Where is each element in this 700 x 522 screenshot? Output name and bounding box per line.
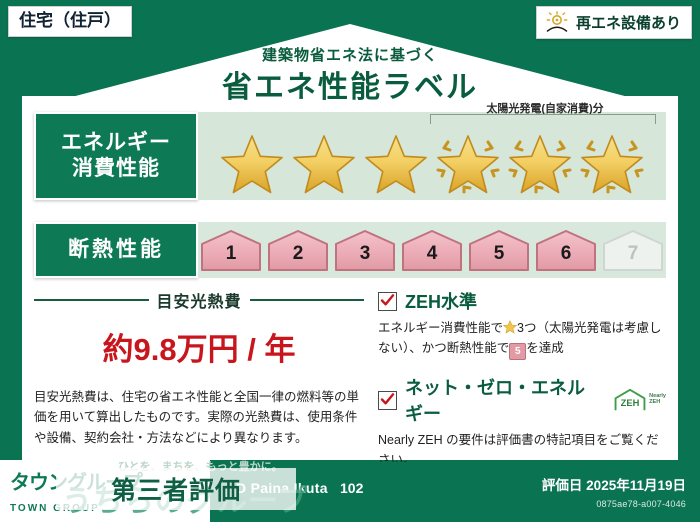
zeh-standard-body: エネルギー消費性能で3つ（太陽光発電は考慮しない）、かつ断熱性能で5を達成	[378, 318, 666, 360]
inline-star-icon	[503, 320, 517, 334]
solar-sparkle-icon	[434, 130, 502, 196]
star-5	[506, 130, 574, 196]
star-6	[578, 130, 646, 196]
energy-stars-area: 太陽光発電(自家消費)分	[198, 112, 666, 200]
star-4	[434, 130, 502, 196]
solar-sparkle-icon	[506, 130, 574, 196]
energy-label-line2: 消費性能	[72, 156, 160, 182]
renewable-energy-badge: 再エネ設備あり	[536, 6, 692, 39]
inline-level-badge: 5	[509, 343, 526, 360]
insulation-levels-area: 1234567	[198, 222, 666, 278]
zeh-checks-block: ZEH水準 エネルギー消費性能で3つ（太陽光発電は考慮しない）、かつ断熱性能で5…	[364, 288, 666, 448]
utility-cost-heading: 目安光熱費	[34, 288, 364, 312]
energy-label-line1: エネルギー	[61, 130, 171, 156]
evaluation-date: 評価日 2025年11月19日	[542, 474, 686, 494]
insulation-label-box: 断熱性能	[34, 222, 198, 278]
sun-icon	[545, 11, 569, 33]
insulation-level-7: 7	[601, 228, 665, 272]
insulation-level-4: 4	[400, 228, 464, 272]
insulation-label-text: 断熱性能	[68, 237, 164, 263]
insulation-level-2: 2	[266, 228, 330, 272]
insulation-level-number: 6	[534, 243, 598, 265]
energy-performance-label-box: エネルギー 消費性能	[34, 112, 198, 200]
star-3	[362, 130, 430, 196]
rule-left	[34, 299, 149, 301]
evaluation-date-label: 評価日	[542, 478, 583, 493]
zeh-standard-title: ZEH水準	[405, 288, 477, 314]
checkbox-zeh-standard[interactable]	[378, 292, 397, 311]
energy-performance-label: 住宅（住戸） 再エネ設備あり 建築物省エネ法に基づく 省エネ性能ラベル エネルギ…	[0, 0, 700, 522]
renewable-badge-label: 再エネ設備あり	[576, 12, 681, 33]
check-icon	[380, 392, 395, 407]
svg-text:ZEH: ZEH	[621, 398, 640, 408]
insulation-level-number: 3	[333, 243, 397, 265]
footer-bar: D Paina Ikuta 102 評価日 2025年11月19日 0875ae…	[0, 462, 700, 522]
zeh-logo: ZEH Nearly ZEH	[613, 388, 666, 412]
star-rating	[218, 116, 646, 196]
net-zero-check-row: ネット・ゼロ・エネルギー ZEH Nearly ZEH	[378, 374, 666, 426]
zeh-logo-sub: Nearly ZEH	[649, 394, 666, 406]
solar-sparkle-icon	[578, 130, 646, 196]
evaluation-date-value: 2025年11月19日	[586, 478, 686, 493]
insulation-level-number: 7	[601, 243, 665, 265]
utility-cost-heading-text: 目安光熱費	[157, 288, 242, 312]
rule-right	[250, 299, 365, 301]
insulation-level-6: 6	[534, 228, 598, 272]
insulation-performance-row: 断熱性能 1234567	[34, 222, 666, 278]
solar-bracket	[430, 114, 656, 124]
insulation-level-number: 4	[400, 243, 464, 265]
star-icon	[218, 130, 286, 196]
star-icon	[362, 130, 430, 196]
utility-cost-note: 目安光熱費は、住宅の省エネ性能と全国一律の燃料等の単価を用いて算出したものです。…	[34, 387, 364, 448]
star-2	[290, 130, 358, 196]
zeh-logo-sub2: ZEH	[649, 400, 666, 406]
checkbox-net-zero-energy[interactable]	[378, 391, 397, 410]
zeh-standard-body-part1: エネルギー消費性能で	[378, 321, 503, 335]
star-1	[218, 130, 286, 196]
insulation-level-number: 1	[199, 243, 263, 265]
zeh-house-icon: ZEH	[613, 388, 647, 412]
insulation-level-1: 1	[199, 228, 263, 272]
insulation-level-3: 3	[333, 228, 397, 272]
zeh-standard-body-part3: を達成	[526, 341, 564, 355]
star-icon	[290, 130, 358, 196]
insulation-level-scale: 1234567	[199, 228, 665, 272]
energy-performance-row: エネルギー 消費性能 太陽光発電(自家消費)分	[34, 112, 666, 200]
evaluation-id: 0875ae78-a007-4046	[596, 499, 686, 509]
check-icon	[380, 293, 395, 308]
insulation-level-number: 2	[266, 243, 330, 265]
insulation-level-number: 5	[467, 243, 531, 265]
house-type-tag: 住宅（住戸）	[8, 6, 132, 37]
utility-cost-value: 約9.8万円 / 年	[34, 324, 364, 369]
insulation-level-5: 5	[467, 228, 531, 272]
utility-cost-block: 目安光熱費 約9.8万円 / 年 目安光熱費は、住宅の省エネ性能と全国一律の燃料…	[34, 288, 364, 448]
zeh-standard-check-row: ZEH水準	[378, 288, 666, 314]
watermark-third-party: 第三者評価	[56, 468, 296, 510]
lower-section: 目安光熱費 約9.8万円 / 年 目安光熱費は、住宅の省エネ性能と全国一律の燃料…	[34, 288, 666, 448]
net-zero-title: ネット・ゼロ・エネルギー	[405, 374, 601, 426]
